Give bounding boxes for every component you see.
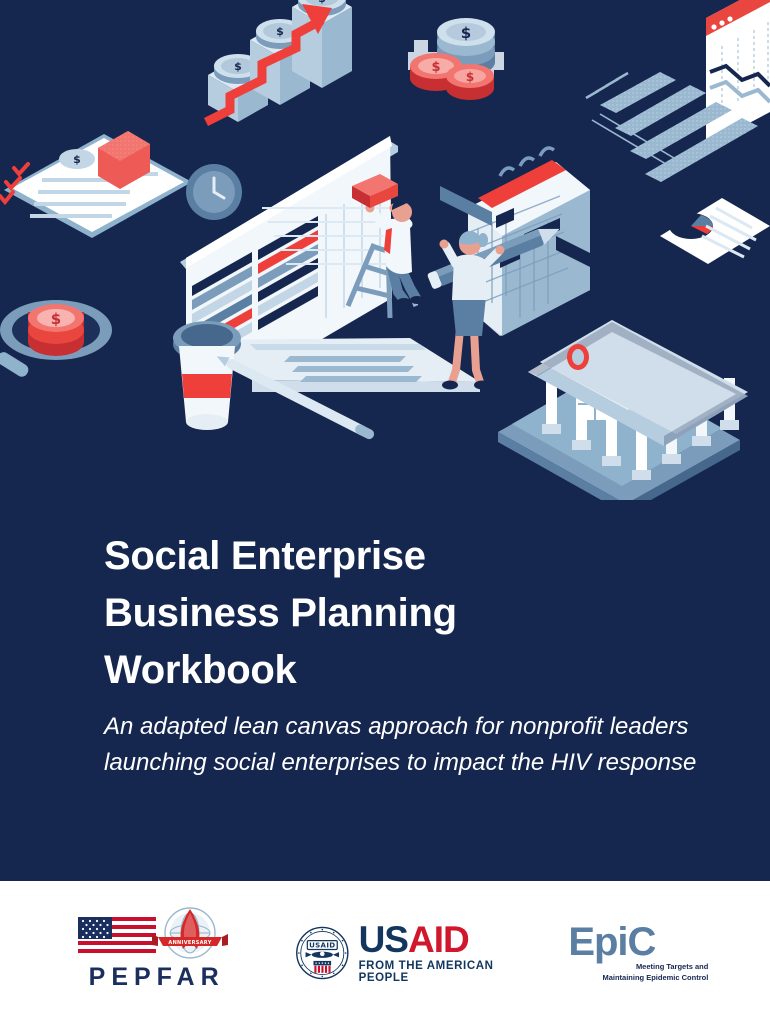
- magnifier-coins: $: [0, 300, 112, 379]
- hero-panel: $ $: [0, 0, 770, 881]
- wall-clock: [186, 164, 242, 220]
- svg-text:$: $: [318, 0, 326, 5]
- bank-building: [498, 320, 748, 500]
- usaid-seal-icon: USAID: [295, 922, 350, 984]
- svg-text:$: $: [234, 60, 242, 73]
- growth-bar-chart: $ $: [206, 0, 352, 122]
- usaid-tagline: FROM THE AMERICAN PEOPLE: [359, 960, 525, 984]
- clipboard-checklist: $: [0, 131, 192, 238]
- epic-tagline-line2: Maintaining Epidemic Control: [568, 973, 708, 983]
- usaid-logo: USAID: [295, 922, 525, 984]
- page-title: Social Enterprise Business Planning Work…: [104, 528, 704, 699]
- svg-text:$: $: [431, 60, 440, 75]
- svg-text:$: $: [466, 70, 474, 84]
- title-block: Social Enterprise Business Planning Work…: [104, 528, 704, 781]
- usaid-wordmark-aid: AID: [408, 919, 469, 960]
- pepfar-marks: ANNIVERSARY: [72, 905, 242, 961]
- svg-text:$: $: [461, 24, 471, 42]
- coffee-cup: [173, 321, 241, 430]
- pepfar-wordmark: PEPFAR: [89, 963, 225, 992]
- page-subtitle: An adapted lean canvas approach for nonp…: [104, 709, 704, 781]
- svg-text:$: $: [276, 25, 284, 38]
- usaid-wordmark-us: US: [359, 919, 408, 960]
- svg-text:ANNIVERSARY: ANNIVERSARY: [168, 940, 211, 946]
- us-flag-icon: [78, 917, 156, 957]
- cover-illustration: $ $: [0, 0, 770, 500]
- epic-tagline-line1: Meeting Targets and: [568, 962, 708, 972]
- pepfar-logo: ANNIVERSARY PEPFAR: [62, 913, 252, 992]
- cover-page: $ $: [0, 0, 770, 1024]
- svg-text:$: $: [73, 153, 81, 166]
- epic-wordmark: EpiC: [568, 923, 655, 961]
- svg-text:USAID: USAID: [309, 940, 335, 949]
- footer-logo-band: ANNIVERSARY PEPFAR: [0, 881, 770, 1024]
- svg-text:$: $: [51, 310, 61, 328]
- epic-logo: EpiC Meeting Targets and Maintaining Epi…: [568, 923, 708, 982]
- pie-chart-report: [660, 198, 770, 264]
- anniversary-seal-icon: ANNIVERSARY: [152, 908, 228, 958]
- usaid-wordmark: USAID: [359, 922, 525, 958]
- coin-stacks: $ $ $: [408, 18, 504, 100]
